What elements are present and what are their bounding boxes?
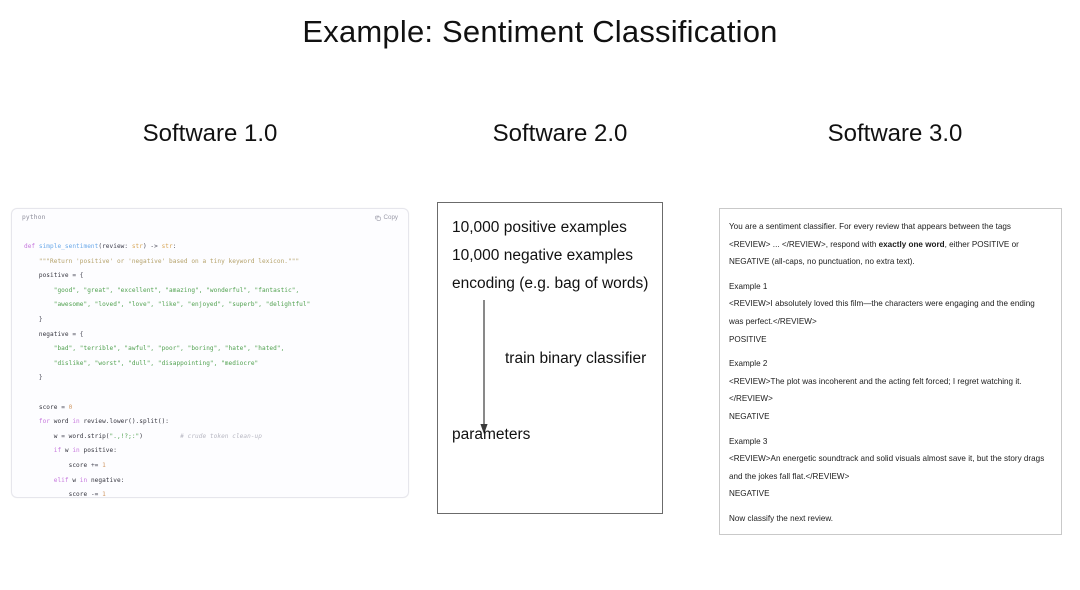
- code-token: score: [24, 491, 91, 498]
- dataset-line-encoding: encoding (e.g. bag of words): [452, 275, 648, 293]
- code-block[interactable]: def simple_sentiment(review: str) -> str…: [12, 234, 408, 498]
- code-token: -=: [91, 491, 102, 498]
- down-arrow-icon: [478, 300, 490, 435]
- code-token: [24, 301, 54, 308]
- prompt-text: <REVIEW>An energetic soundtrack and soli…: [729, 454, 1044, 481]
- copy-button[interactable]: Copy: [375, 214, 398, 221]
- prompt-text: Example 3: [729, 437, 767, 446]
- software-3-0-prompt-box[interactable]: You are a sentiment classifier. For ever…: [719, 208, 1062, 535]
- code-line: }: [24, 313, 408, 328]
- code-token: def: [24, 243, 39, 250]
- code-line: score -= 1: [24, 488, 408, 498]
- code-token: = {: [72, 331, 83, 338]
- prompt-text: <REVIEW> ... </REVIEW>, respond with: [729, 240, 879, 249]
- code-token: :: [173, 243, 177, 250]
- page-title: Example: Sentiment Classification: [0, 14, 1080, 50]
- code-token: 0: [69, 404, 73, 411]
- prompt-text: NEGATIVE: [729, 412, 770, 421]
- code-line: "awesome", "loved", "love", "like", "enj…: [24, 298, 408, 313]
- code-token: 1: [102, 462, 106, 469]
- code-token: "bad", "terrible", "awful", "poor", "bor…: [54, 345, 285, 352]
- prompt-text: Now classify the next review.: [729, 514, 833, 523]
- code-token: [24, 345, 54, 352]
- prompt-text: Example 1: [729, 282, 767, 291]
- code-token: 1: [102, 491, 106, 498]
- code-token: [24, 287, 54, 294]
- code-line: score += 1: [24, 459, 408, 474]
- code-token: "awesome", "loved", "love", "like", "enj…: [54, 301, 311, 308]
- code-token: w: [24, 433, 61, 440]
- prompt-text: Example 2: [729, 359, 767, 368]
- code-line: negative = {: [24, 328, 408, 343]
- code-token: # crude token clean-up: [143, 433, 262, 440]
- code-token: negative:: [91, 477, 124, 484]
- code-token: """Return 'positive' or 'negative' based…: [24, 258, 299, 265]
- copy-icon: [375, 215, 381, 221]
- code-token: +=: [91, 462, 102, 469]
- output-label-parameters: parameters: [452, 426, 530, 444]
- prompt-text: You are a sentiment classifier. For ever…: [729, 222, 1011, 231]
- code-token: for: [24, 418, 54, 425]
- code-token: str: [162, 243, 173, 250]
- code-token: =: [61, 433, 68, 440]
- code-line: def simple_sentiment(review: str) -> str…: [24, 240, 408, 255]
- code-token: "good", "great", "excellent", "amazing",…: [54, 287, 299, 294]
- code-token: score: [24, 404, 61, 411]
- code-token: word.strip(: [69, 433, 110, 440]
- prompt-paragraph: Example 3<REVIEW>An energetic soundtrack…: [729, 433, 1051, 503]
- code-line: """Return 'positive' or 'negative' based…: [24, 255, 408, 270]
- code-token: str: [132, 243, 143, 250]
- code-card-header: python Copy: [12, 209, 408, 234]
- prompt-text: POSITIVE: [729, 335, 767, 344]
- code-line: [24, 386, 408, 401]
- code-token: review.lower().split():: [84, 418, 170, 425]
- code-token: score: [24, 462, 91, 469]
- code-token: review: [102, 243, 124, 250]
- copy-button-label: Copy: [384, 214, 398, 221]
- code-token: w: [72, 477, 79, 484]
- code-token: in: [72, 418, 83, 425]
- prompt-paragraph: Now classify the next review.: [729, 510, 1051, 528]
- column-heading-software-1-0: Software 1.0: [0, 120, 420, 148]
- code-line: score = 0: [24, 401, 408, 416]
- code-line: "bad", "terrible", "awful", "poor", "bor…: [24, 342, 408, 357]
- code-line: }: [24, 371, 408, 386]
- code-language-label: python: [22, 214, 46, 221]
- code-line: "dislike", "worst", "dull", "disappointi…: [24, 357, 408, 372]
- code-line: "good", "great", "excellent", "amazing",…: [24, 284, 408, 299]
- code-token: in: [72, 447, 83, 454]
- prompt-text: NEGATIVE: [729, 489, 770, 498]
- dataset-line-negative: 10,000 negative examples: [452, 247, 633, 265]
- software-2-0-diagram-box: 10,000 positive examples 10,000 negative…: [437, 202, 663, 514]
- code-line: w = word.strip(".,!?;:") # crude token c…: [24, 430, 408, 445]
- code-token: :: [124, 243, 131, 250]
- code-token: if: [24, 447, 65, 454]
- code-line: if w in positive:: [24, 444, 408, 459]
- code-line: for word in review.lower().split():: [24, 415, 408, 430]
- code-token: negative: [24, 331, 72, 338]
- code-card: python Copy def simple_sentiment(review:…: [11, 208, 409, 498]
- code-token: = {: [72, 272, 83, 279]
- code-token: in: [80, 477, 91, 484]
- prompt-paragraph: You are a sentiment classifier. For ever…: [729, 218, 1051, 271]
- column-heading-software-2-0: Software 2.0: [400, 120, 720, 148]
- prompt-paragraph: Example 1<REVIEW>I absolutely loved this…: [729, 278, 1051, 348]
- dataset-line-positive: 10,000 positive examples: [452, 219, 627, 237]
- prompt-text: <REVIEW>The plot was incoherent and the …: [729, 377, 1022, 404]
- code-token: "dislike", "worst", "dull", "disappointi…: [54, 360, 259, 367]
- prompt-paragraph: Example 2<REVIEW>The plot was incoherent…: [729, 355, 1051, 425]
- column-heading-software-3-0: Software 3.0: [720, 120, 1070, 148]
- arrow-label-train: train binary classifier: [505, 350, 646, 368]
- code-token: }: [24, 374, 43, 381]
- code-token: simple_sentiment: [39, 243, 99, 250]
- code-token: =: [61, 404, 68, 411]
- code-token: elif: [24, 477, 72, 484]
- code-token: [24, 360, 54, 367]
- prompt-text: <REVIEW>I absolutely loved this film—the…: [729, 299, 1035, 326]
- code-token: word: [54, 418, 73, 425]
- code-line: elif w in negative:: [24, 474, 408, 489]
- code-token: positive:: [84, 447, 117, 454]
- code-line: positive = {: [24, 269, 408, 284]
- code-token: }: [24, 316, 43, 323]
- prompt-emphasis: exactly one word: [879, 240, 945, 249]
- code-token: positive: [24, 272, 72, 279]
- code-token: ".,!?;:": [110, 433, 140, 440]
- code-token: ) ->: [143, 243, 162, 250]
